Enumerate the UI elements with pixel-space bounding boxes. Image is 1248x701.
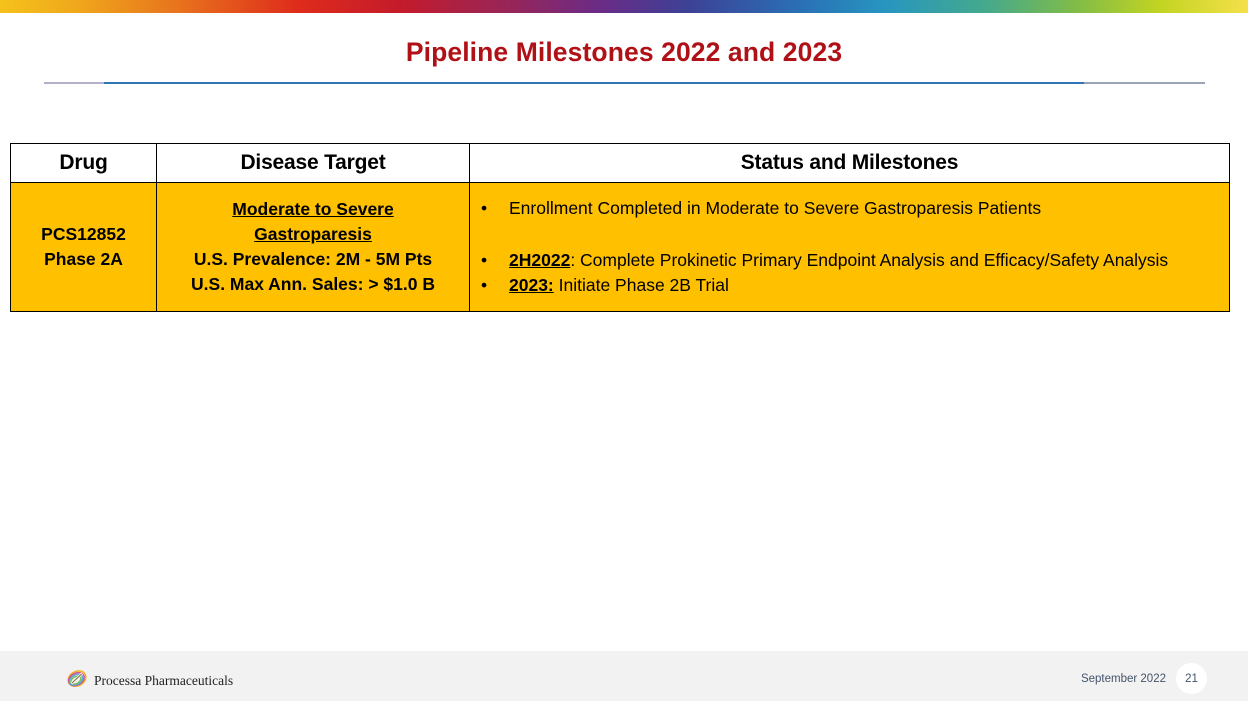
bullet-icon: • bbox=[481, 196, 487, 221]
brand-name-label: Processa Pharmaceuticals bbox=[94, 673, 233, 689]
cell-drug: PCS12852 Phase 2A bbox=[11, 183, 157, 312]
cell-status-and-milestones: •Enrollment Completed in Moderate to Sev… bbox=[470, 183, 1230, 312]
disease-target-heading-line2: Gastroparesis bbox=[157, 222, 469, 247]
disease-target-heading-line1: Moderate to Severe bbox=[157, 197, 469, 222]
pipeline-milestones-table: Drug Disease Target Status and Milestone… bbox=[10, 143, 1230, 312]
milestone-text: Initiate Phase 2B Trial bbox=[554, 275, 729, 295]
title-divider bbox=[44, 82, 1205, 85]
title-divider-left-segment bbox=[44, 82, 104, 84]
milestone-timeframe-tag: 2H2022 bbox=[509, 250, 570, 270]
page-title: Pipeline Milestones 2022 and 2023 bbox=[0, 38, 1248, 67]
drug-phase: Phase 2A bbox=[11, 247, 156, 272]
page-number-badge: 21 bbox=[1176, 663, 1207, 694]
milestone-text: Enrollment Completed in Moderate to Seve… bbox=[509, 198, 1041, 218]
footer-date-label: September 2022 bbox=[1081, 673, 1166, 685]
column-header-disease-target: Disease Target bbox=[157, 144, 470, 183]
title-divider-right-segment bbox=[1084, 82, 1205, 84]
column-header-drug: Drug bbox=[11, 144, 157, 183]
title-divider-center-segment bbox=[104, 82, 1084, 84]
list-item: •2023: Initiate Phase 2B Trial bbox=[470, 273, 1229, 298]
cell-disease-target: Moderate to Severe Gastroparesis U.S. Pr… bbox=[157, 183, 470, 312]
table-header-row: Drug Disease Target Status and Milestone… bbox=[11, 144, 1230, 183]
milestones-list: •Enrollment Completed in Moderate to Sev… bbox=[470, 196, 1229, 298]
table-body: PCS12852 Phase 2A Moderate to Severe Gas… bbox=[11, 183, 1230, 312]
processa-logo-icon bbox=[66, 667, 88, 694]
top-gradient-bar bbox=[0, 0, 1248, 13]
bullet-icon: • bbox=[481, 273, 487, 298]
list-item: •Enrollment Completed in Moderate to Sev… bbox=[470, 196, 1229, 221]
disease-target-prevalence: U.S. Prevalence: 2M - 5M Pts bbox=[157, 247, 469, 272]
drug-name: PCS12852 bbox=[11, 222, 156, 247]
column-header-status-and-milestones: Status and Milestones bbox=[470, 144, 1230, 183]
table-row: PCS12852 Phase 2A Moderate to Severe Gas… bbox=[11, 183, 1230, 312]
slide-canvas: Pipeline Milestones 2022 and 2023 Drug D… bbox=[0, 0, 1248, 701]
milestone-timeframe-tag: 2023: bbox=[509, 275, 554, 295]
list-item: •2H2022: Complete Prokinetic Primary End… bbox=[470, 248, 1229, 273]
bullet-icon: • bbox=[481, 248, 487, 273]
table-header: Drug Disease Target Status and Milestone… bbox=[11, 144, 1230, 183]
disease-target-max-annual-sales: U.S. Max Ann. Sales: > $1.0 B bbox=[157, 272, 469, 297]
brand-lockup: Processa Pharmaceuticals bbox=[66, 667, 233, 694]
milestone-text: : Complete Prokinetic Primary Endpoint A… bbox=[570, 250, 1168, 270]
